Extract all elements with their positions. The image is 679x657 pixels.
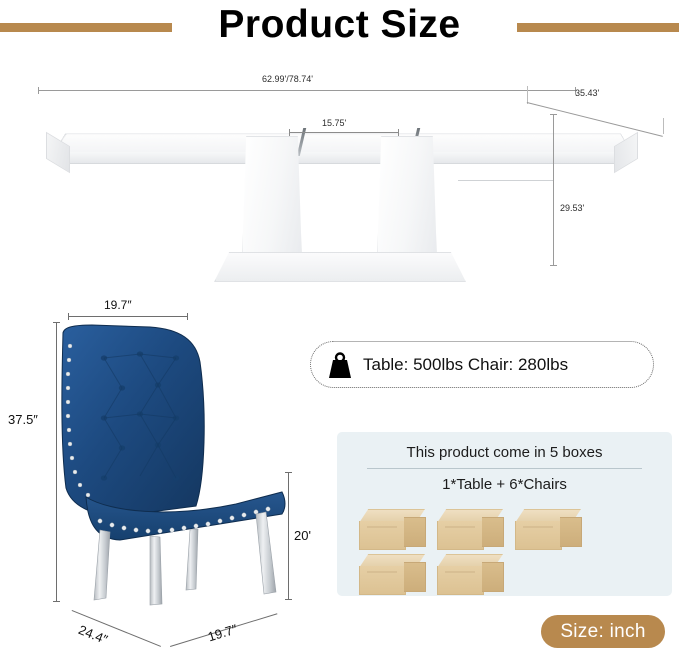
table-depth-leader-end [663,118,664,134]
header: Product Size [0,0,679,58]
carton [515,509,581,549]
page-title: Product Size [0,0,679,50]
carton-tape [367,526,397,528]
chair-drawing [0,292,320,657]
carton-tape [445,571,475,573]
carton-side [560,517,582,547]
carton-row-top [359,509,659,549]
product-size-infographic: Product Size 62.99'/78.74' 15.75' 35.43' [0,0,679,657]
table-base-plate [214,252,466,282]
dimension-tick-bottom [550,265,557,266]
carton-tape [445,526,475,528]
packaging-contents: 1*Table + 6*Chairs [351,476,658,493]
chair-illustration: 19.7″ 37.5″ 20' 24.4″ 19.7″ [0,292,320,657]
table-illustration: 62.99'/78.74' 15.75' 35.43' 29.53' [0,62,679,302]
table-pedestal-right [377,136,437,262]
carton [437,509,503,549]
table-width-dimension-line [38,90,576,91]
carton-tape [523,526,553,528]
weight-capacity-text: Table: 500lbs Chair: 280lbs [363,355,568,375]
carton [359,554,425,594]
chair-backrest [62,325,204,516]
table-front-edge [62,152,624,164]
carton [359,509,425,549]
table-height-label: 29.53' [560,203,584,213]
table-height-leader [458,180,554,181]
carton-tape [367,571,397,573]
carton-side [482,517,504,547]
carton [437,554,503,594]
packaging-divider [367,468,642,469]
carton-grid [359,509,659,599]
carton-side [404,517,426,547]
weight-icon [327,351,353,379]
carton-row-bottom [359,554,659,594]
weight-capacity-badge: Table: 500lbs Chair: 280lbs [310,341,654,388]
table-width-label: 62.99'/78.74' [262,74,313,84]
table-pedestal-left [242,136,302,262]
table-extension-label: 15.75' [322,118,346,128]
dimension-tick-top [550,114,557,115]
carton-side [404,562,426,592]
dimension-tick-left [289,129,290,136]
table-extension-dimension-line [289,132,399,133]
size-unit-badge: Size: inch [541,615,665,648]
packaging-panel: This product come in 5 boxes 1*Table + 6… [337,432,672,596]
table-height-dimension-line [553,114,554,266]
table-depth-label: 35.43' [575,88,599,98]
carton-side [482,562,504,592]
table-top [22,92,662,212]
packaging-title: This product come in 5 boxes [351,444,658,461]
dimension-tick-right [398,129,399,136]
